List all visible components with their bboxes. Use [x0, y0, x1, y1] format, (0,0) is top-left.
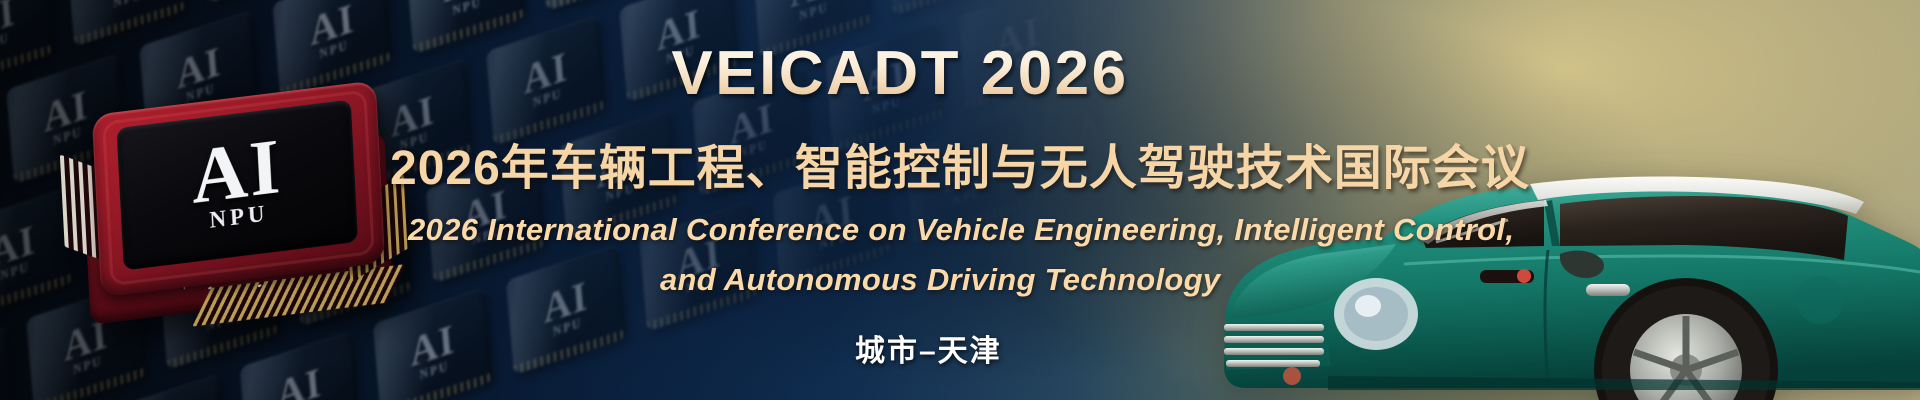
conference-title-english-line2: and Autonomous Driving Technology: [660, 262, 1220, 298]
car-door-handle: [1586, 284, 1630, 296]
conference-acronym-title: VEICADT 2026: [671, 38, 1128, 109]
car-side-marker-lamp: [1517, 269, 1531, 283]
car-front-fog-lamp: [1283, 367, 1301, 385]
conference-city-label: 城市–天津: [855, 326, 1002, 370]
conference-title-english-line1: 2026 International Conference on Vehicle…: [408, 212, 1514, 248]
conference-banner: AINPU AINPU AINPU AINPU AINPU AINPU AINP…: [0, 0, 1920, 400]
car-headlight-bulb: [1355, 295, 1381, 317]
chip-ai-label: AI: [190, 135, 283, 209]
car-fuel-cap: [1796, 276, 1844, 324]
npu-processor-graphic: AI NPU: [73, 68, 402, 329]
chip-die-face: AI NPU: [116, 100, 358, 271]
conference-title-chinese: 2026年车辆工程、智能控制与无人驾驶技术国际会议: [390, 128, 1530, 198]
